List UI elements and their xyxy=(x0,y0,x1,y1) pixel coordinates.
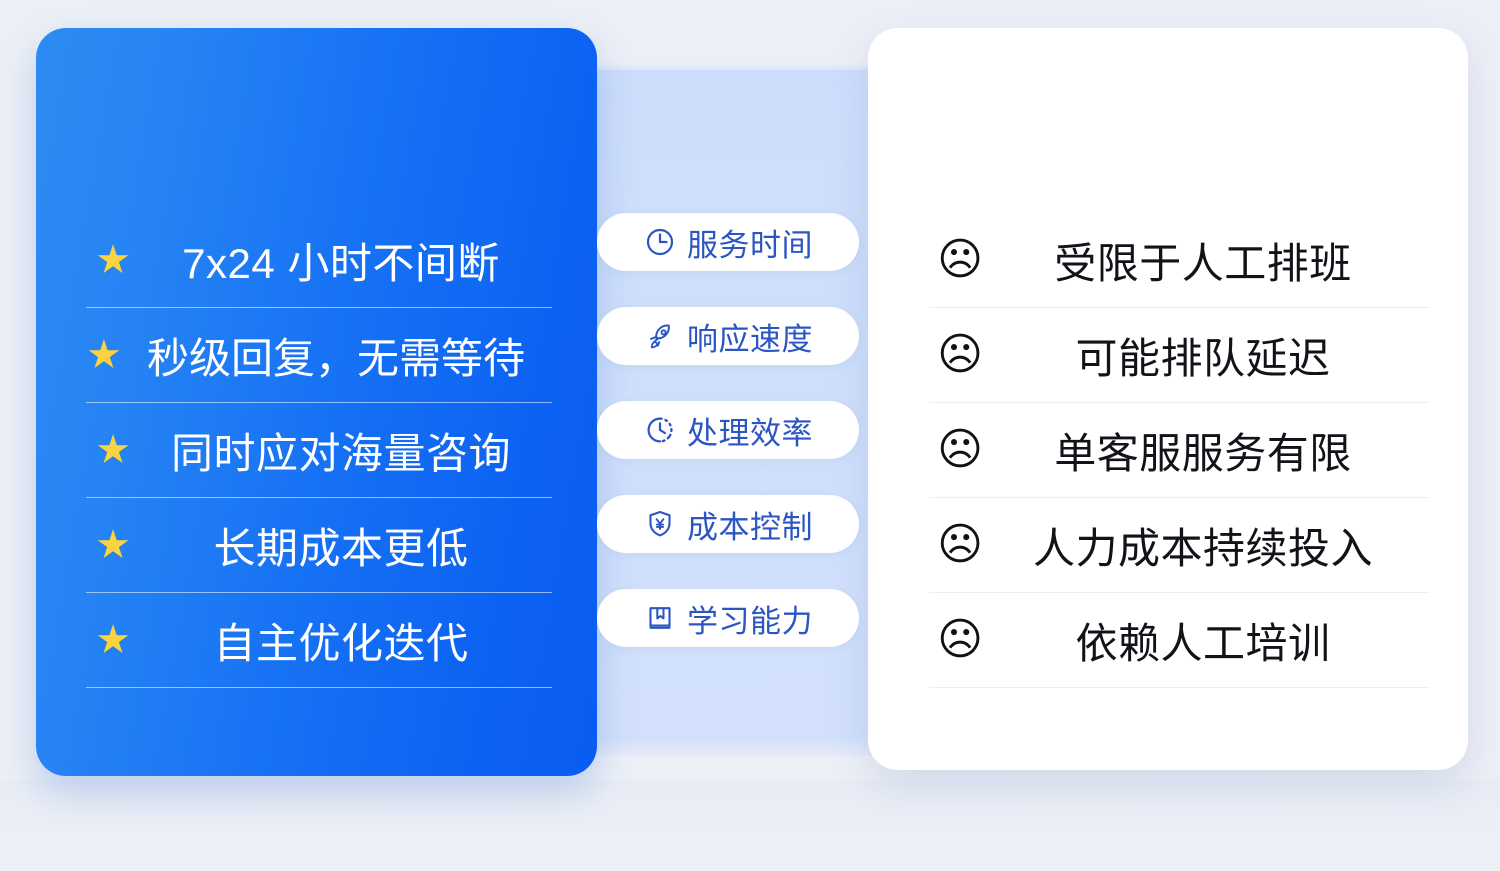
list-item[interactable]: ☹ 可能排队延迟 xyxy=(929,308,1429,403)
list-item[interactable]: ☹ 人力成本持续投入 xyxy=(929,498,1429,593)
dimension-pill-processing-efficiency[interactable]: 处理效率 xyxy=(597,401,859,459)
ai-item-label: 自主优化迭代 xyxy=(140,610,552,671)
ai-feature-list: ★ 7x24 小时不间断 ★ 秒级回复，无需等待 ★ 同时应对海量咨询 ★ 长期… xyxy=(86,213,552,688)
shield-yuan-icon xyxy=(643,507,677,541)
dimension-pill-service-time[interactable]: 服务时间 xyxy=(597,213,859,271)
sad-face-icon: ☹ xyxy=(929,333,991,377)
dimension-label: 响应速度 xyxy=(687,314,813,359)
background-bottom-fade xyxy=(0,780,1500,871)
dimension-label: 处理效率 xyxy=(687,408,813,453)
dimension-pill-learning-ability[interactable]: 学习能力 xyxy=(597,589,859,647)
dimension-label: 成本控制 xyxy=(687,502,813,547)
dimension-label: 服务时间 xyxy=(687,220,813,265)
list-item[interactable]: ☹ 受限于人工排班 xyxy=(929,213,1429,308)
timer-dashed-icon xyxy=(643,413,677,447)
sad-face-icon: ☹ xyxy=(929,618,991,662)
rocket-icon xyxy=(643,319,677,353)
list-item[interactable]: ★ 7x24 小时不间断 xyxy=(86,213,552,308)
list-item[interactable]: ☹ 依赖人工培训 xyxy=(929,593,1429,688)
ai-item-label: 秒级回复，无需等待 xyxy=(120,325,552,386)
ai-item-label: 长期成本更低 xyxy=(140,515,552,576)
star-icon: ★ xyxy=(86,430,140,470)
sad-face-icon: ☹ xyxy=(929,238,991,282)
star-icon: ★ xyxy=(86,525,140,565)
list-item[interactable]: ★ 自主优化迭代 xyxy=(86,593,552,688)
dimension-pill-cost-control[interactable]: 成本控制 xyxy=(597,495,859,553)
star-icon: ★ xyxy=(86,620,140,660)
list-item[interactable]: ★ 秒级回复，无需等待 xyxy=(86,308,552,403)
traditional-item-label: 单客服服务有限 xyxy=(991,420,1429,481)
ai-item-label: 同时应对海量咨询 xyxy=(140,420,552,481)
sad-face-icon: ☹ xyxy=(929,523,991,567)
traditional-item-label: 可能排队延迟 xyxy=(991,325,1429,386)
list-item[interactable]: ★ 长期成本更低 xyxy=(86,498,552,593)
traditional-drawback-list: ☹ 受限于人工排班 ☹ 可能排队延迟 ☹ 单客服服务有限 ☹ 人力成本持续投入 … xyxy=(929,213,1429,688)
traditional-item-label: 依赖人工培训 xyxy=(991,610,1429,671)
dimension-pill-response-speed[interactable]: 响应速度 xyxy=(597,307,859,365)
ai-item-label: 7x24 小时不间断 xyxy=(140,230,552,291)
dimension-label: 学习能力 xyxy=(687,596,813,641)
list-item[interactable]: ★ 同时应对海量咨询 xyxy=(86,403,552,498)
sad-face-icon: ☹ xyxy=(929,428,991,472)
star-icon: ★ xyxy=(86,240,140,280)
traditional-item-label: 受限于人工排班 xyxy=(991,230,1429,291)
center-band-bottom-fade xyxy=(594,738,904,756)
comparison-dimension-list: 服务时间 响应速度 处理效率 xyxy=(597,213,859,683)
star-icon: ★ xyxy=(86,335,120,375)
traditional-item-label: 人力成本持续投入 xyxy=(991,515,1429,576)
book-icon xyxy=(643,601,677,635)
clock-icon xyxy=(643,225,677,259)
list-item[interactable]: ☹ 单客服服务有限 xyxy=(929,403,1429,498)
